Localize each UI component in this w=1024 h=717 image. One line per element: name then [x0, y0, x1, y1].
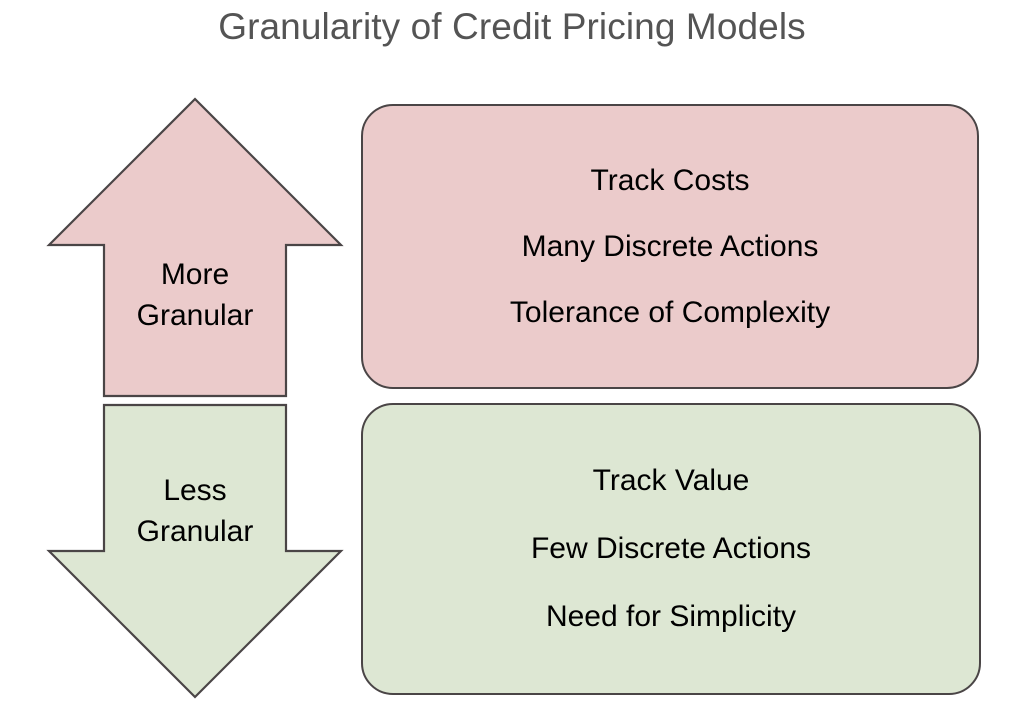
panel-line: Track Value: [363, 464, 979, 498]
arrow-up-icon: [49, 99, 341, 396]
panel-line: Many Discrete Actions: [363, 230, 977, 264]
panel-line: Need for Simplicity: [363, 600, 979, 634]
panel-line: Track Costs: [363, 164, 977, 198]
more-granular-panel: Track Costs Many Discrete Actions Tolera…: [361, 104, 979, 389]
diagram-canvas: Granularity of Credit Pricing Models Mor…: [0, 0, 1024, 717]
less-granular-panel: Track Value Few Discrete Actions Need fo…: [361, 403, 981, 695]
arrow-down-label: Less Granular: [95, 470, 295, 552]
panel-line: Tolerance of Complexity: [363, 296, 977, 330]
panel-line: Few Discrete Actions: [363, 532, 979, 566]
arrow-up-label: More Granular: [95, 254, 295, 336]
